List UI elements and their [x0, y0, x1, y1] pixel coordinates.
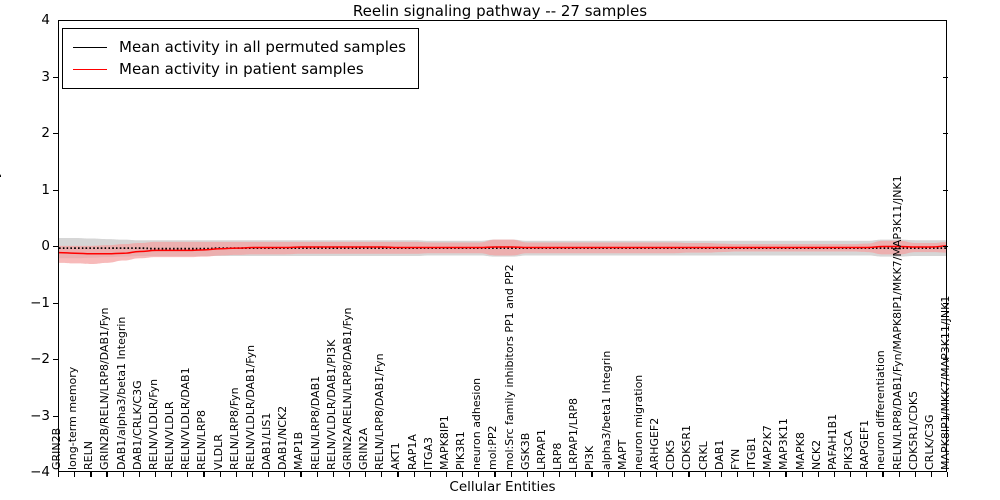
x-tick-label: PIK3R1: [455, 431, 466, 470]
x-tick-label: MAP3K11: [778, 418, 789, 470]
x-tick-label: LRPAP1/LRP8: [568, 398, 579, 470]
x-tick-label: ITGB1: [746, 437, 757, 470]
legend-item-patient: Mean activity in patient samples: [73, 58, 406, 80]
legend-line-red-icon: [73, 69, 107, 70]
x-tick-label: GSK3B: [520, 433, 531, 470]
x-tick-label: CDK5: [665, 440, 676, 470]
x-tick-label: RELN/LRP8/Fyn: [229, 387, 240, 470]
x-tick-label: ARHGEF2: [649, 418, 660, 470]
x-tick-label: RAP1A: [407, 434, 418, 470]
x-tick-label: DAB1/CRLK/C3G: [132, 380, 143, 470]
x-tick-label: CRKL: [698, 441, 709, 470]
x-tick-label: FYN: [730, 449, 741, 470]
x-tick-label: RELN/VLDLR/Fyn: [148, 379, 159, 470]
legend-label-permuted: Mean activity in all permuted samples: [119, 38, 406, 56]
x-tick-label: mol:Src family inhibitors PP1 and PP2: [504, 264, 515, 470]
x-tick-label: RELN/LRP8/DAB1: [310, 376, 321, 470]
x-tick-label: VLDLR: [213, 434, 224, 470]
x-tick-label: mol:PP2: [487, 426, 498, 470]
x-axis-title: Cellular Entities: [58, 479, 947, 495]
x-tick-label: MAP1B: [293, 432, 304, 470]
x-tick-label: GRIN2B: [51, 428, 62, 470]
legend-item-permuted: Mean activity in all permuted samples: [73, 36, 406, 58]
x-tick-label: RELN/VLDLR/DAB1: [180, 367, 191, 470]
x-tick-label: DAB1/LIS1: [261, 413, 272, 470]
x-tick-label: RELN/LRP8/DAB1/Fyn: [374, 353, 385, 470]
x-tick-label: RAPGEF1: [859, 420, 870, 470]
x-tick-label: AKT1: [390, 442, 401, 470]
x-tick-label: CDK5R1/CDK5: [908, 391, 919, 470]
x-tick-label: LRPAP1: [536, 429, 547, 470]
x-tick-label: RELN/VLDLR/DAB1/Fyn: [245, 345, 256, 470]
x-tick-label: MAPT: [617, 440, 628, 470]
chart-legend: Mean activity in all permuted samples Me…: [62, 28, 419, 89]
x-tick-label: neuron differentiation: [875, 350, 886, 470]
chart-figure: Reelin signaling pathway -- 27 samples I…: [0, 0, 1000, 500]
x-tick-label: CDK5R1: [681, 425, 692, 470]
x-tick-label: DAB1: [714, 440, 725, 470]
x-tick-label: RELN/LRP8/DAB1/Fyn/MAPK8IP1/MKK7/MAP3K11…: [892, 175, 903, 470]
x-tick-label: long-term memory: [67, 367, 78, 470]
x-tick-label: PI3K: [584, 446, 595, 470]
legend-label-patient: Mean activity in patient samples: [119, 60, 364, 78]
x-tick-label: neuron adhesion: [471, 378, 482, 470]
x-tick-label: RELN/VLDLR/DAB1/PI3K: [326, 340, 337, 470]
x-tick-label: LRP8: [552, 443, 563, 470]
x-tick-label: GRIN2B/RELN/LRP8/DAB1/Fyn: [99, 307, 110, 470]
x-tick-label: RELN/LRP8: [196, 410, 207, 470]
x-tick-label: GRIN2A/RELN/LRP8/DAB1/Fyn: [342, 308, 353, 471]
x-tick-label: PIK3CA: [843, 431, 854, 470]
legend-line-black-icon: [73, 47, 107, 48]
x-tick-label: DAB1/alpha3/beta1 Integrin: [116, 317, 127, 470]
x-tick-label: NCK2: [811, 440, 822, 470]
x-tick-label: MAP2K7: [762, 425, 773, 470]
x-tick-label: MAPK8IP1: [439, 415, 450, 470]
x-tick-label: neuron migration: [633, 375, 644, 470]
x-tick-label: MAPK8: [795, 432, 806, 470]
x-tick-label: PAFAH1B1: [827, 414, 838, 470]
x-tick-label: alpha3/beta1 Integrin: [601, 351, 612, 470]
x-tick-label: DAB1/NCK2: [277, 406, 288, 470]
x-tick-label: MAPK8IP1/MKK7/MAP3K11/JNK1: [940, 296, 951, 470]
x-tick-label: GRIN2A: [358, 428, 369, 470]
x-tick-label: RELN: [83, 441, 94, 470]
x-tick-label: ITGA3: [423, 437, 434, 470]
x-tick-label: RELN/VLDLR: [164, 401, 175, 470]
x-tick-label: CRLK/C3G: [924, 414, 935, 470]
